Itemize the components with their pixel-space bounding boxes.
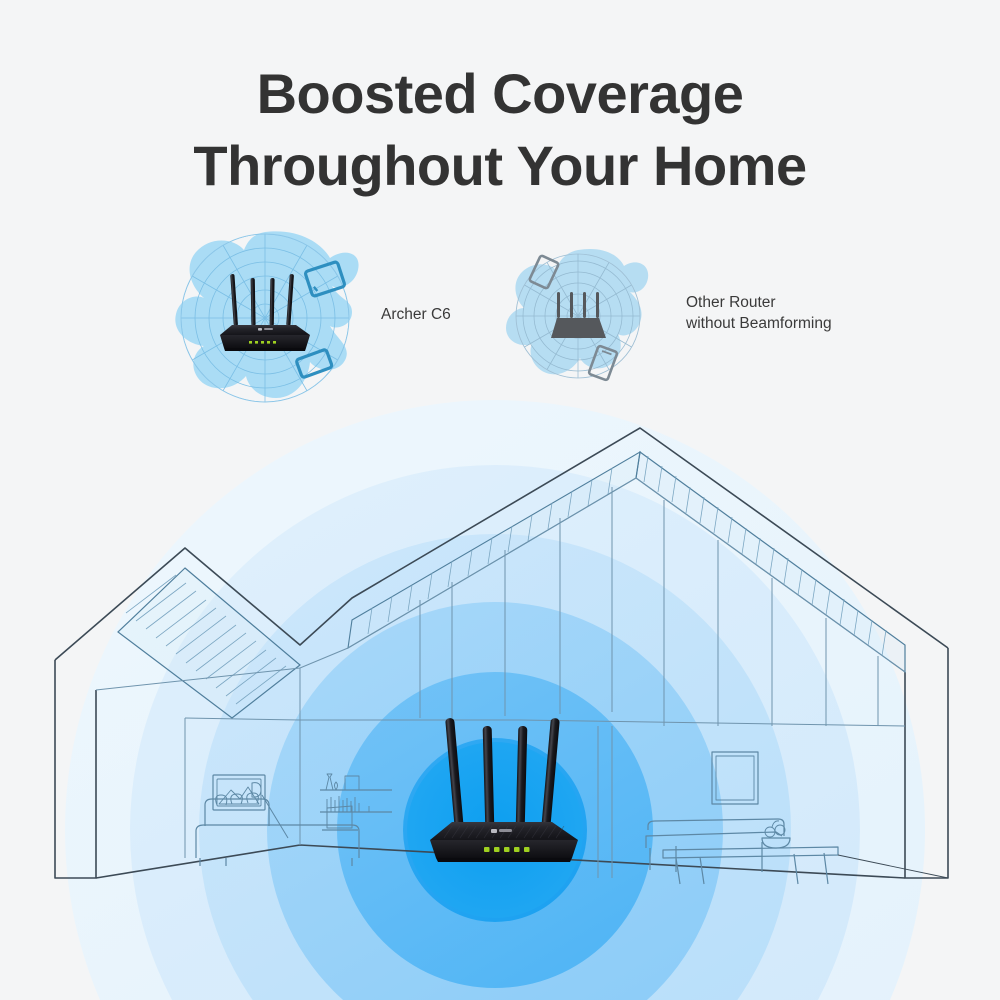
signal-rings [65, 400, 925, 1000]
poster-stage: Boosted Coverage Throughout Your Home Ar… [0, 0, 1000, 1000]
page-title: Boosted Coverage Throughout Your Home [0, 58, 1000, 201]
omnidirectional-coverage-blob [506, 249, 648, 374]
archer-c6-label: Archer C6 [381, 305, 451, 326]
comparison-diagram-archer [175, 228, 359, 408]
other-router-label: Other Router without Beamforming [686, 293, 832, 335]
comparison-diagram-other-router [506, 249, 648, 382]
router-base [436, 858, 572, 862]
